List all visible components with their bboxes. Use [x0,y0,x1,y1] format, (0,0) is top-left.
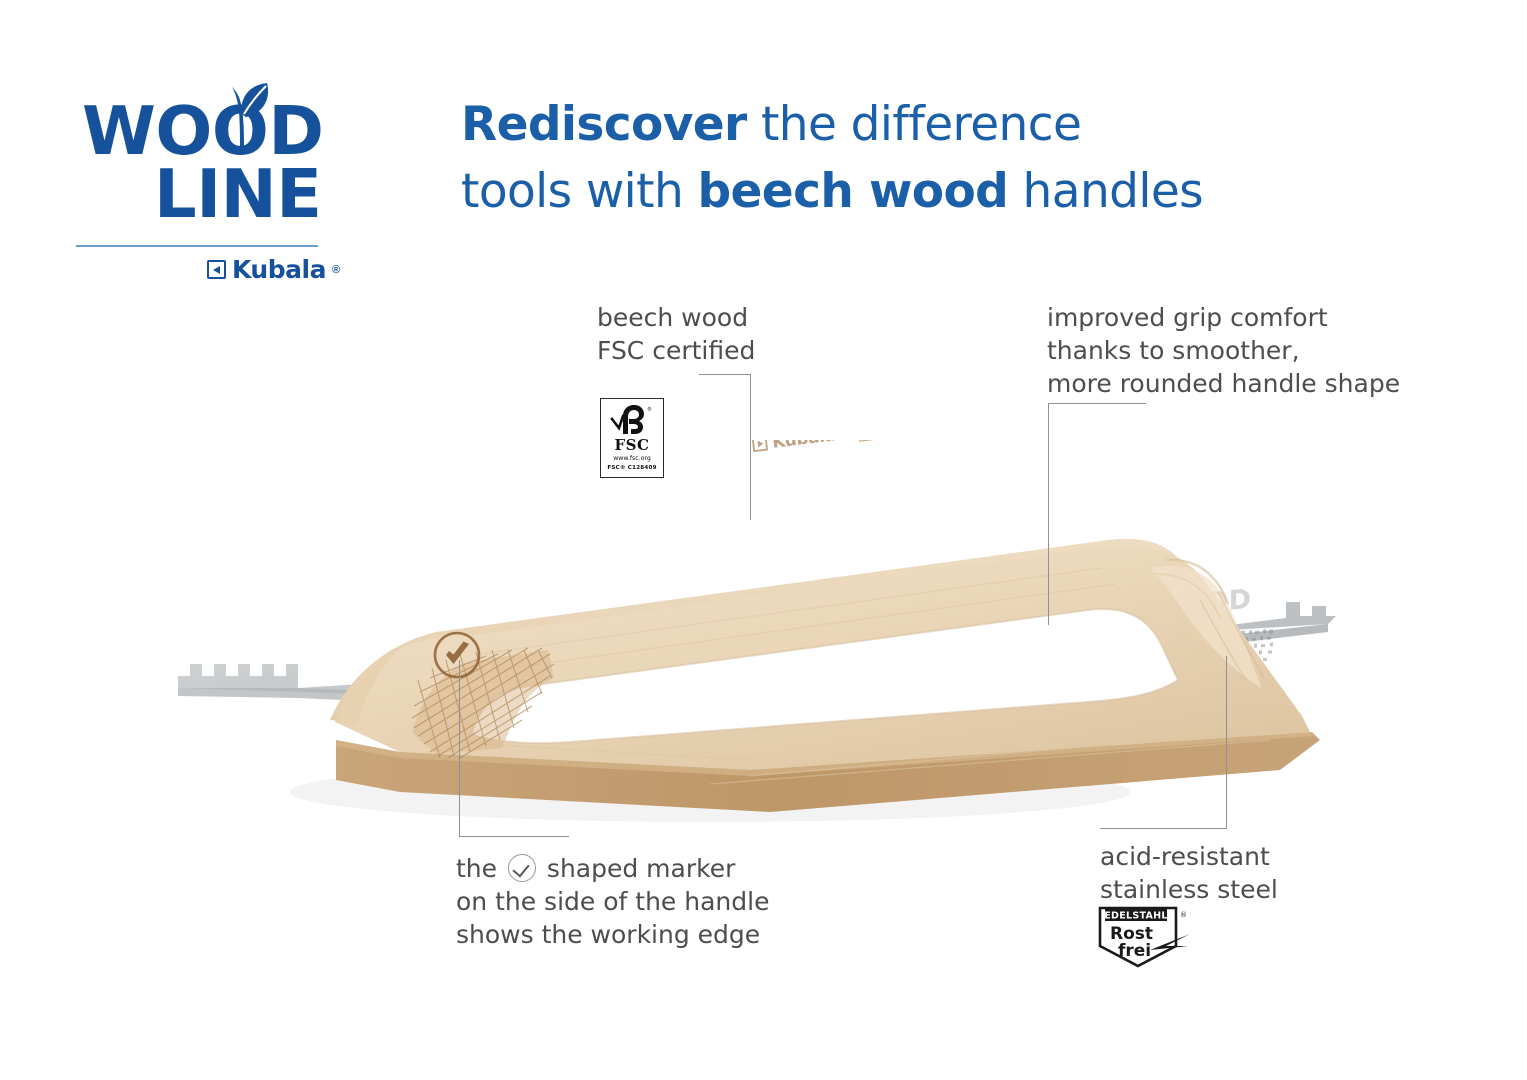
rostfrei-stainless-badge: EDELSTAHL ® Rost frei [1098,906,1194,968]
headline-emphasis-rediscover: Rediscover [461,97,747,152]
fsc-registered-mark: ® [647,406,652,413]
logo-divider [76,245,318,247]
svg-text:Kubala: Kubala [771,440,836,453]
headline: Rediscover the difference tools with bee… [461,92,1421,225]
rostfrei-edelstahl-label: EDELSTAHL [1104,911,1168,922]
product-image-notched-trowel: WOOD LINE Kubala [150,440,1380,840]
leaf-icon [214,82,274,154]
check-circle-icon [508,854,536,882]
leader-line-steel-horizontal [1100,828,1227,829]
leader-line-marker-vertical [459,660,460,836]
kubala-logo: Kubala ® [207,257,340,282]
leader-line-grip-horizontal [1048,403,1146,404]
callout-grip-comfort: improved grip comfort thanks to smoother… [1047,301,1400,400]
fsc-code: FSC® C128409 [607,465,656,471]
leader-line-beech-vertical [750,374,751,520]
kubala-registered-mark: ® [332,264,340,276]
leader-line-steel-vertical [1226,656,1227,828]
callout-working-edge-marker: the shaped marker on the side of the han… [456,849,769,951]
kubala-mark-icon [207,260,226,279]
handle-engraving-kubala: Kubala [752,440,882,455]
wood-line-logo: WOOD LINE Kubala ® [76,46,326,241]
headline-emphasis-beech-wood: beech wood [697,164,1008,219]
rostfrei-line-2: frei [1118,941,1151,961]
kubala-name: Kubala [232,257,326,282]
callout-stainless-steel: acid-resistant stainless steel [1100,840,1278,906]
headline-line-2-start: tools with [461,164,697,219]
headline-line-1: Rediscover the difference [461,92,1421,159]
fsc-url: www.fsc.org [613,455,651,462]
headline-line-2-end: handles [1008,164,1203,219]
logo-wordmark: WOOD LINE [76,46,326,186]
logo-word-line: LINE [154,161,321,228]
leader-line-marker-horizontal [459,836,569,837]
leader-line-grip-vertical [1048,403,1049,625]
fsc-title: FSC [615,438,650,453]
fsc-certification-badge: ® FSC www.fsc.org FSC® C128409 [600,398,664,478]
beech-wood-handle: Kubala [330,440,1320,812]
callout-marker-text-before: the [456,854,505,883]
headline-line-1-rest: the difference [747,97,1082,152]
fsc-tree-checkmark-icon: ® [609,403,655,437]
poster-canvas: WOOD LINE Kubala ® Rediscover the differ… [0,0,1527,1080]
headline-line-2: tools with beech wood handles [461,159,1421,226]
callout-beech-wood: beech wood FSC certified [597,301,755,367]
rostfrei-registered-mark: ® [1180,911,1187,919]
leader-line-beech-horizontal [699,374,751,375]
